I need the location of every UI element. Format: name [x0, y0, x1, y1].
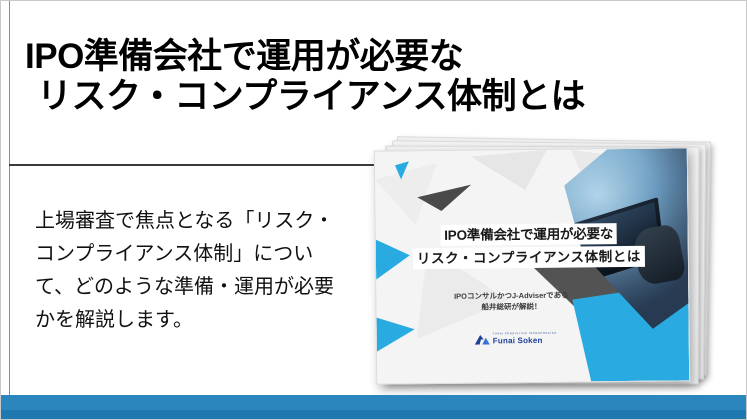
- bottom-accent-bar-shadow: [1, 410, 747, 419]
- page-title-line-1: IPO準備会社で運用が必要な: [25, 37, 625, 77]
- funai-soken-logo: FUNAI CONSULTING INCORPORATED Funai Soke…: [475, 333, 557, 346]
- document-cover[interactable]: IPO準備会社で運用が必要な リスク・コンプライアンス体制とは IPOコンサルか…: [374, 147, 690, 384]
- document-thumbnail-stack[interactable]: IPO準備会社で運用が必要な リスク・コンプライアンス体制とは IPOコンサルか…: [369, 137, 714, 389]
- logo-name: Funai Soken: [493, 337, 557, 346]
- description-paragraph: 上場審査で焦点となる「リスク・ コンプライアンス体制」につい て、どのような準備…: [35, 205, 365, 337]
- left-vertical-rule: [9, 1, 10, 420]
- page-title: IPO準備会社で運用が必要な リスク・コンプライアンス体制とは: [25, 37, 625, 117]
- cover-title-line-1: IPO準備会社で運用が必要な: [440, 223, 617, 246]
- cover-subtitle: IPOコンサルかつJ-Adviserである 船井総研が解説！: [416, 289, 606, 313]
- cover-title-line-2: リスク・コンプライアンス体制とは: [413, 246, 645, 269]
- description-line-2: コンプライアンス体制」につい: [35, 238, 365, 271]
- bottom-accent-bar: [1, 395, 747, 419]
- page-title-line-2: リスク・コンプライアンス体制とは: [25, 77, 625, 117]
- logo-wordmark: FUNAI CONSULTING INCORPORATED Funai Soke…: [493, 333, 557, 345]
- horizontal-divider: [9, 164, 376, 166]
- description-line-1: 上場審査で焦点となる「リスク・: [35, 205, 365, 238]
- mountain-arrow-icon: [475, 333, 490, 345]
- description-line-4: かを解説します。: [35, 304, 365, 337]
- cover-subtitle-line-2: 船井総研が解説！: [416, 300, 606, 313]
- slide-canvas: IPO準備会社で運用が必要な リスク・コンプライアンス体制とは 上場審査で焦点と…: [0, 0, 747, 420]
- cover-title: IPO準備会社で運用が必要な リスク・コンプライアンス体制とは: [384, 223, 674, 270]
- description-line-3: て、どのような準備・運用が必要: [35, 271, 365, 304]
